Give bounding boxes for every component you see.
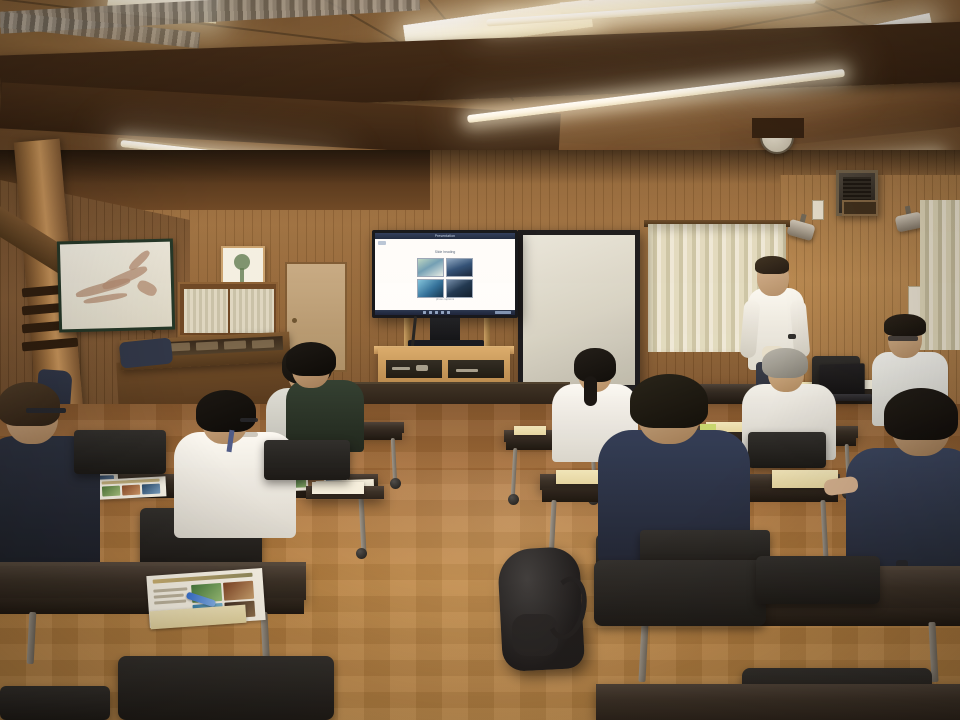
pamphlet-text-line	[154, 599, 186, 604]
slide-caption: photo captions	[436, 297, 454, 301]
monitor-screen[interactable]: Presentation Slide heading photo caption…	[375, 233, 515, 315]
taskbar[interactable]	[375, 310, 515, 315]
chair-back[interactable]	[74, 430, 166, 474]
framed-picture	[842, 200, 878, 216]
map-island	[135, 278, 158, 298]
pamphlet-photo	[122, 485, 140, 496]
light-switch-plate[interactable]	[812, 200, 824, 220]
certificate-stem	[240, 268, 244, 282]
shelf-equipment	[416, 365, 428, 371]
handout-sheet[interactable]	[556, 470, 604, 484]
attendee-hair	[884, 388, 958, 440]
shelf-equipment	[392, 367, 410, 370]
attendee-glasses-icon	[240, 418, 258, 422]
attendee-hair	[286, 342, 336, 376]
cabinet-exhibit	[196, 341, 218, 350]
operator-hair	[884, 314, 926, 336]
conference-table-foreground	[596, 684, 960, 720]
presenter-wristwatch	[788, 334, 796, 339]
chair-back[interactable]	[756, 556, 880, 604]
window-pane	[184, 289, 228, 333]
pamphlet-photo	[223, 581, 254, 601]
window-title: Presentation	[435, 233, 455, 239]
pamphlet[interactable]	[98, 476, 167, 500]
slide-title: Slide heading	[435, 250, 456, 254]
chair-back[interactable]	[264, 440, 350, 480]
monitor-stand-neck	[430, 318, 460, 342]
attendee-hair	[196, 390, 256, 432]
chair-back-foreground[interactable]	[594, 560, 766, 626]
attendee-ponytail	[584, 376, 597, 406]
handout-sheet[interactable]	[312, 482, 364, 494]
taskbar-icon[interactable]	[429, 311, 432, 314]
operator-glasses-icon	[888, 336, 918, 341]
av-cabinet-shelf	[386, 360, 442, 378]
taskbar-icon[interactable]	[441, 311, 444, 314]
attendee-hair	[0, 382, 60, 426]
table-caster	[356, 548, 367, 559]
table-caster	[508, 494, 519, 505]
wall-window	[178, 282, 278, 337]
taskbar-icon[interactable]	[435, 311, 438, 314]
app-title-bar: Presentation	[375, 233, 515, 239]
chair-back-foreground[interactable]	[0, 686, 110, 720]
beam-occluder	[752, 118, 804, 138]
cabinet-exhibit	[224, 340, 246, 349]
slide-thumbnail	[446, 258, 473, 277]
shelf-equipment	[456, 369, 478, 372]
taskbar-tray[interactable]	[495, 311, 511, 314]
slide-thumbnail	[417, 258, 444, 277]
cabinet-exhibit	[252, 339, 274, 348]
chair-back[interactable]	[748, 432, 826, 468]
table-caster	[390, 478, 401, 489]
map-surface	[60, 242, 172, 330]
slide-thumbnail	[417, 279, 444, 298]
folded-coat	[119, 337, 173, 368]
pamphlet-photo	[142, 484, 160, 495]
app-logo-icon	[378, 241, 386, 245]
curtain	[920, 200, 960, 350]
pamphlet-text-line	[154, 594, 184, 599]
av-cabinet-shelf	[448, 360, 504, 378]
attendee-hair-grey	[762, 348, 808, 378]
display-monitor[interactable]: Presentation Slide heading photo caption…	[372, 230, 518, 318]
attendee-glasses-icon	[26, 408, 66, 413]
attendee-hair	[630, 374, 708, 428]
pamphlet-text-line	[153, 587, 187, 592]
handout-sheet	[514, 426, 546, 435]
presenter-hair	[755, 256, 789, 274]
wall-map	[57, 238, 175, 332]
meeting-room-photo: Presentation Slide heading photo caption…	[0, 0, 960, 720]
taskbar-icon[interactable]	[423, 311, 426, 314]
window-pane	[230, 289, 274, 333]
slide-thumbnail-grid	[417, 258, 473, 298]
door-knob-icon[interactable]	[292, 318, 297, 323]
taskbar-icon[interactable]	[447, 311, 450, 314]
pamphlet-photo	[102, 486, 120, 497]
chair-back-foreground[interactable]	[118, 656, 334, 720]
slide-thumbnail	[446, 279, 473, 298]
